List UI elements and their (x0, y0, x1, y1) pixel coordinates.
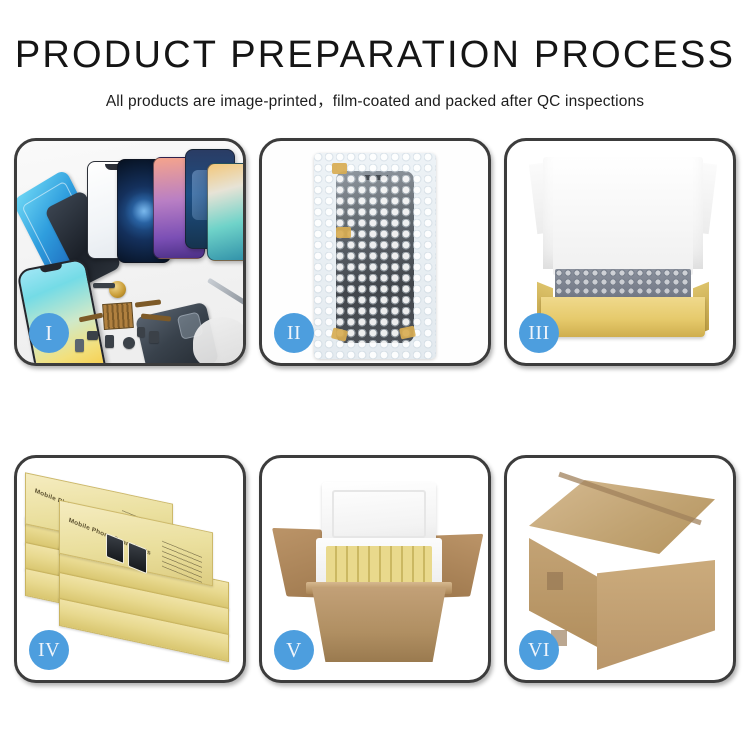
spare-part-icon (93, 283, 115, 288)
step-badge-2: II (274, 313, 314, 353)
step-badge-3: III (519, 313, 559, 353)
foam-cooler-lid-icon (322, 482, 436, 546)
spare-part-icon (87, 331, 98, 340)
spare-part-icon (123, 337, 135, 349)
process-step-3: III (504, 138, 736, 366)
chip-icon (102, 302, 134, 330)
phone-screen-icon (207, 163, 243, 261)
carton-right-face (597, 560, 715, 670)
process-step-6: VI (504, 455, 736, 683)
inner-box-icon (537, 157, 709, 343)
sealed-carton-icon (529, 480, 715, 660)
step-badge-4: IV (29, 630, 69, 670)
spare-part-icon (137, 327, 145, 337)
tape-icon (336, 227, 351, 238)
page-title: PRODUCT PREPARATION PROCESS (0, 36, 750, 76)
foam-sheet-icon (553, 179, 693, 275)
spare-part-icon (75, 339, 84, 352)
step-badge-5: V (274, 630, 314, 670)
page-subtitle: All products are image-printed，film-coat… (0, 89, 750, 111)
box-front-panel (541, 297, 705, 337)
step-badge-1: I (29, 313, 69, 353)
page-root: PRODUCT PREPARATION PROCESS All products… (0, 0, 750, 750)
bubble-wrap-bag-icon (314, 153, 436, 359)
process-step-1: I (14, 138, 246, 366)
process-step-4: Mobile Phone Spare Parts Mobile Phone Sp… (14, 455, 246, 683)
process-step-2: II (259, 138, 491, 366)
page-header: PRODUCT PREPARATION PROCESS All products… (0, 36, 750, 111)
packed-retail-boxes-icon (326, 546, 432, 586)
spare-part-icon (105, 335, 114, 348)
tape-icon (332, 163, 347, 174)
process-step-grid: I II (14, 138, 736, 683)
carton-body (312, 588, 446, 662)
spare-part-icon (149, 331, 159, 343)
box-spec-lines (162, 541, 202, 583)
process-step-5: V (259, 455, 491, 683)
step-badge-6: VI (519, 630, 559, 670)
hand-icon (193, 317, 243, 363)
carton-tape (547, 572, 563, 590)
